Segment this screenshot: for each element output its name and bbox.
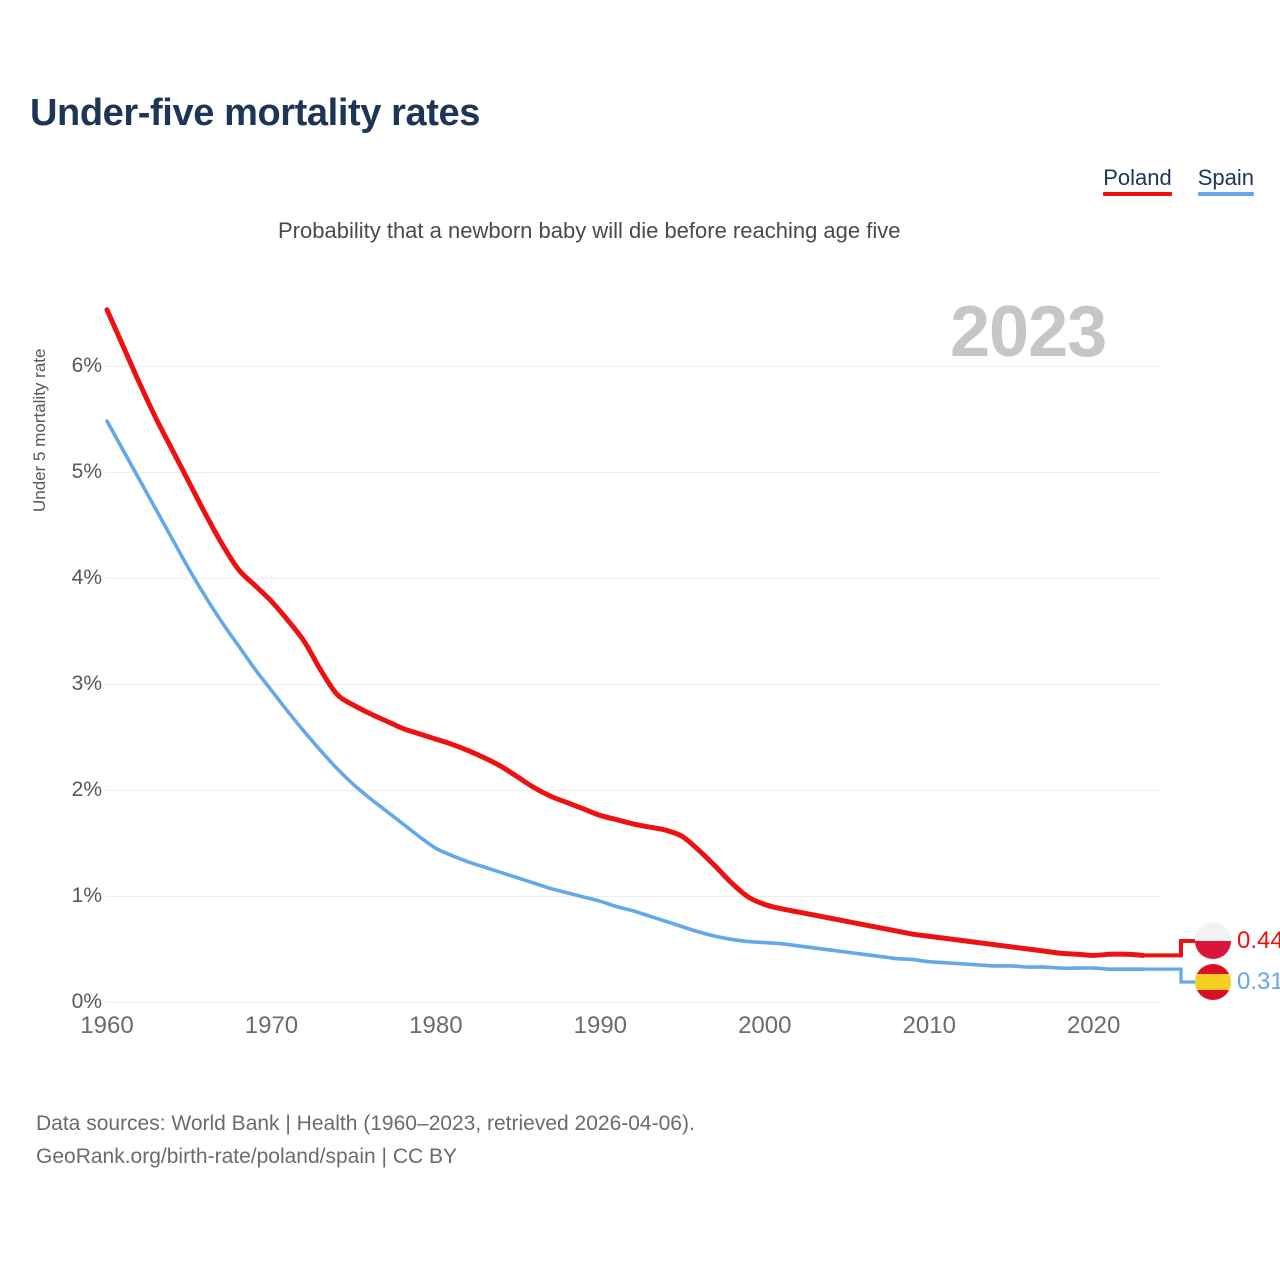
y-axis-tick-label: 2% (72, 778, 102, 802)
y-axis-tick-label: 4% (72, 566, 102, 590)
poland-flag-icon (1195, 923, 1231, 959)
page-title: Under-five mortality rates (30, 92, 480, 135)
legend-label-spain: Spain (1198, 166, 1254, 189)
chart-subtitle: Probability that a newborn baby will die… (278, 218, 901, 244)
gridline (105, 1002, 1160, 1003)
x-axis-tick-label: 1970 (245, 1012, 298, 1040)
plot-area: 0%1%2%3%4%5%6% 1960197019801990200020102… (105, 300, 1160, 1002)
endpoint-value-spain: 0.31% (1237, 968, 1280, 996)
legend-rule-spain (1198, 192, 1254, 196)
y-axis-tick-label: 6% (72, 354, 102, 378)
legend-item-poland[interactable]: Poland (1103, 166, 1172, 196)
endpoint-poland[interactable]: 0.44% (1195, 923, 1280, 959)
y-axis-tick-label: 5% (72, 460, 102, 484)
y-axis-tick-label: 3% (72, 672, 102, 696)
series-line-poland (107, 310, 1143, 956)
series-lines (105, 300, 1160, 1002)
legend-label-poland: Poland (1103, 166, 1172, 189)
legend: Poland Spain (1103, 166, 1254, 196)
legend-item-spain[interactable]: Spain (1198, 166, 1254, 196)
legend-rule-poland (1103, 192, 1172, 196)
x-axis-tick-label: 1960 (80, 1012, 133, 1040)
footer-line-1: Data sources: World Bank | Health (1960–… (36, 1108, 695, 1141)
footer: Data sources: World Bank | Health (1960–… (36, 1108, 695, 1173)
chart-container: Under-five mortality rates Poland Spain … (0, 0, 1280, 1280)
x-axis-tick-label: 2010 (903, 1012, 956, 1040)
y-axis-tick-label: 0% (72, 990, 102, 1014)
endpoint-spain[interactable]: 0.31% (1195, 964, 1280, 1000)
footer-line-2[interactable]: GeoRank.org/birth-rate/poland/spain | CC… (36, 1141, 695, 1174)
endpoint-connector-poland (1143, 941, 1195, 955)
x-axis-tick-label: 2000 (738, 1012, 791, 1040)
series-line-spain (107, 421, 1143, 969)
x-axis-tick-label: 1980 (409, 1012, 462, 1040)
y-axis-tick-label: 1% (72, 884, 102, 908)
x-axis-tick-label: 2020 (1067, 1012, 1120, 1040)
y-axis-label: Under 5 mortality rate (30, 349, 50, 512)
x-axis-tick-label: 1990 (574, 1012, 627, 1040)
endpoint-connector-spain (1143, 969, 1195, 982)
spain-flag-icon (1195, 964, 1231, 1000)
endpoint-value-poland: 0.44% (1237, 927, 1280, 955)
